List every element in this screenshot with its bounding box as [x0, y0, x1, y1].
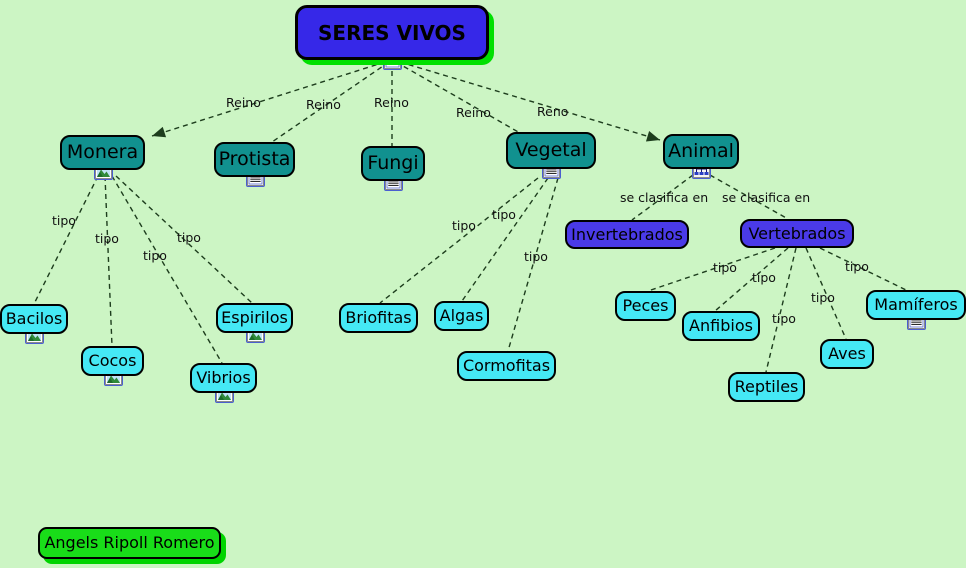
edge-label-vertebrados-aves: tipo	[811, 292, 835, 305]
edge-label-vertebrados-mamiferos: tipo	[845, 261, 869, 274]
node-label-anfibios: Anfibios	[689, 318, 753, 334]
node-cormofitas[interactable]: Cormofitas	[457, 351, 556, 381]
node-fungi[interactable]: Fungi	[361, 146, 425, 181]
arrowhead-animal	[646, 131, 660, 142]
edge-vegetal-algas	[462, 178, 548, 301]
node-mamiferos[interactable]: Mamíferos	[866, 290, 966, 320]
node-protista[interactable]: Protista	[214, 142, 295, 177]
edge-label-animal-vertebrados: se clasifica en	[722, 192, 810, 205]
node-seres_vivos[interactable]: SERES VIVOS	[295, 5, 489, 60]
edge-label-animal-invertebrados: se clasifica en	[620, 192, 708, 205]
node-label-cocos: Cocos	[89, 353, 137, 369]
concept-map-canvas: ReinoReinoReinoReinoRenotipotipotipotipo…	[0, 0, 966, 568]
node-vibrios[interactable]: Vibrios	[190, 363, 257, 393]
node-vertebrados[interactable]: Vertebrados	[740, 219, 854, 248]
node-label-vegetal: Vegetal	[515, 141, 586, 160]
node-cocos[interactable]: Cocos	[81, 346, 144, 376]
node-label-seres_vivos: SERES VIVOS	[318, 23, 466, 43]
node-label-bacilos: Bacilos	[6, 311, 63, 327]
edge-label-vegetal-cormofitas: tipo	[524, 251, 548, 264]
edge-label-monera-cocos: tipo	[95, 233, 119, 246]
edge-vegetal-briofitas	[380, 178, 538, 303]
node-label-author: Angels Ripoll Romero	[44, 535, 214, 551]
node-label-protista: Protista	[219, 150, 291, 169]
node-label-invertebrados: Invertebrados	[571, 227, 683, 243]
node-label-peces: Peces	[623, 298, 669, 314]
node-bacilos[interactable]: Bacilos	[0, 304, 68, 334]
node-label-reptiles: Reptiles	[735, 379, 799, 395]
edge-label-seres_vivos-protista: Reino	[306, 99, 341, 112]
node-label-cormofitas: Cormofitas	[463, 358, 550, 374]
node-reptiles[interactable]: Reptiles	[728, 372, 805, 402]
edge-layer	[0, 0, 966, 568]
edge-label-seres_vivos-vegetal: Reino	[456, 107, 491, 120]
edge-vertebrados-reptiles	[766, 248, 796, 372]
node-invertebrados[interactable]: Invertebrados	[565, 220, 689, 249]
edge-label-vegetal-algas: tipo	[492, 209, 516, 222]
edge-label-monera-bacilos: tipo	[52, 215, 76, 228]
node-aves[interactable]: Aves	[820, 339, 874, 369]
node-peces[interactable]: Peces	[615, 291, 676, 321]
edge-monera-cocos	[105, 176, 112, 346]
node-espirilos[interactable]: Espirilos	[216, 303, 293, 333]
arrowhead-monera	[152, 127, 166, 137]
node-label-vertebrados: Vertebrados	[748, 226, 845, 242]
node-label-vibrios: Vibrios	[196, 370, 250, 386]
edge-monera-vibrios	[112, 176, 222, 363]
edge-label-seres_vivos-animal: Reno	[537, 106, 568, 119]
node-label-aves: Aves	[828, 346, 866, 362]
edge-label-vegetal-briofitas: tipo	[452, 220, 476, 233]
node-label-algas: Algas	[440, 308, 484, 324]
node-anfibios[interactable]: Anfibios	[682, 311, 760, 341]
edge-seres_vivos-animal	[400, 62, 660, 140]
edge-label-vertebrados-reptiles: tipo	[772, 313, 796, 326]
edge-monera-bacilos	[34, 176, 98, 304]
node-author[interactable]: Angels Ripoll Romero	[38, 527, 221, 559]
node-label-animal: Animal	[668, 142, 734, 161]
edge-vegetal-cormofitas	[508, 178, 558, 351]
node-animal[interactable]: Animal	[663, 134, 739, 169]
node-label-monera: Monera	[67, 143, 138, 162]
edge-seres_vivos-monera	[152, 62, 385, 136]
node-label-espirilos: Espirilos	[221, 310, 288, 326]
edge-seres_vivos-vegetal	[396, 62, 520, 133]
node-label-mamiferos: Mamíferos	[874, 297, 957, 313]
edge-label-seres_vivos-monera: Reino	[226, 97, 261, 110]
node-briofitas[interactable]: Briofitas	[339, 303, 418, 333]
edge-label-seres_vivos-fungi: Reino	[374, 97, 409, 110]
node-vegetal[interactable]: Vegetal	[506, 132, 596, 169]
node-monera[interactable]: Monera	[60, 135, 145, 170]
node-algas[interactable]: Algas	[434, 301, 489, 331]
edge-label-monera-espirilos: tipo	[177, 232, 201, 245]
node-label-fungi: Fungi	[367, 154, 418, 173]
edge-label-vertebrados-anfibios: tipo	[752, 272, 776, 285]
edge-label-monera-vibrios: tipo	[143, 250, 167, 263]
edge-label-vertebrados-peces: tipo	[713, 262, 737, 275]
node-label-briofitas: Briofitas	[345, 310, 411, 326]
